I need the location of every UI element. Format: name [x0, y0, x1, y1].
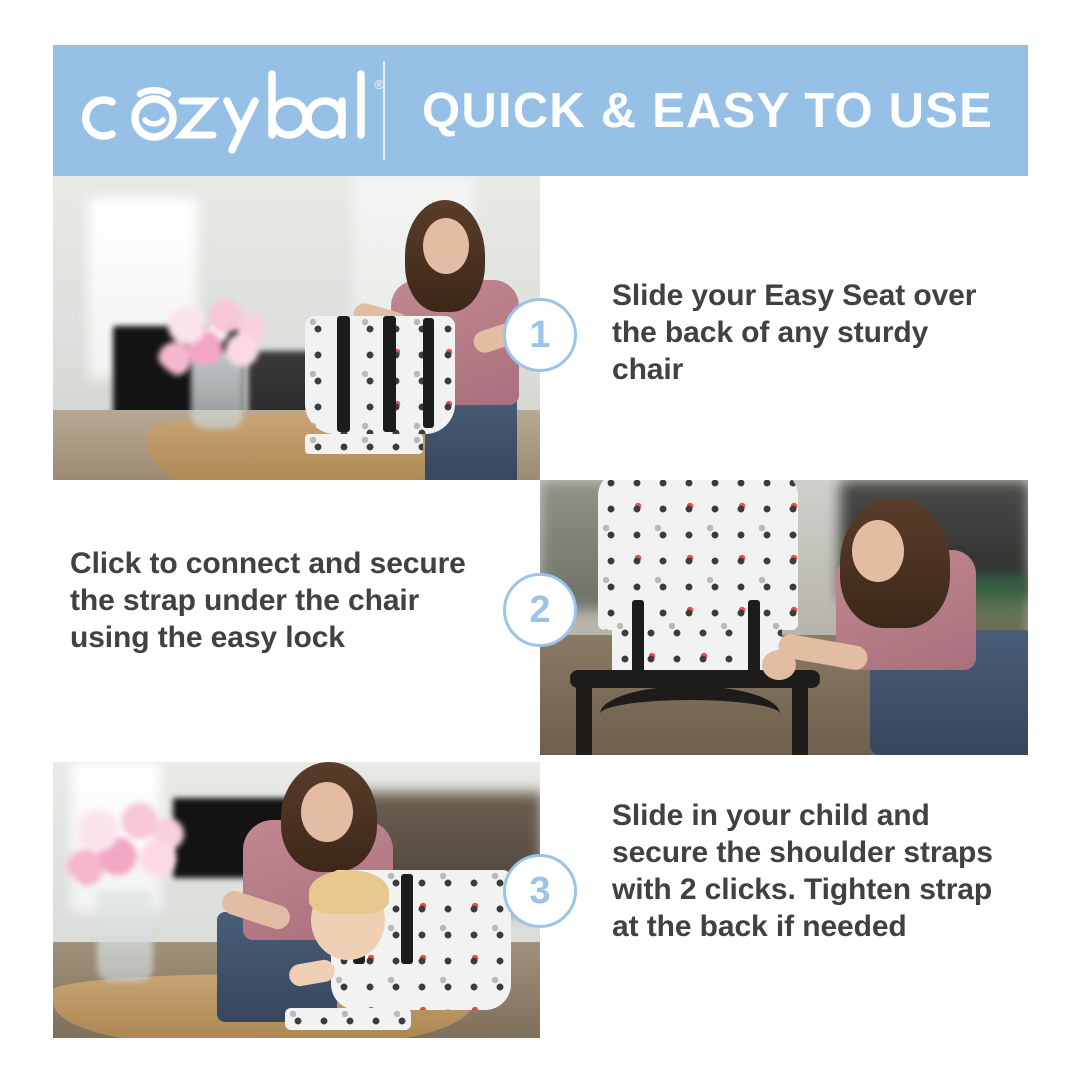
brand-block: ® [53, 45, 383, 176]
step-1-text: Slide your Easy Seat over the back of an… [612, 278, 1004, 389]
step-1-photo [53, 176, 540, 480]
step-3-text: Slide in your child and secure the shoul… [612, 798, 1012, 946]
step-3-photo [53, 762, 540, 1038]
header-divider [383, 61, 385, 160]
cozybaby-logo: ® [72, 66, 372, 156]
step-1-number-badge: 1 [503, 298, 577, 372]
page-title: QUICK & EASY TO USE [383, 83, 1028, 139]
infographic-page: ® QUICK & EASY TO USE [0, 0, 1080, 1080]
step-2-number-badge: 2 [503, 573, 577, 647]
header-band: ® QUICK & EASY TO USE [53, 45, 1028, 176]
step-2-text: Click to connect and secure the strap un… [70, 546, 480, 657]
step-3-number-badge: 3 [503, 854, 577, 928]
step-2-photo [540, 480, 1028, 755]
